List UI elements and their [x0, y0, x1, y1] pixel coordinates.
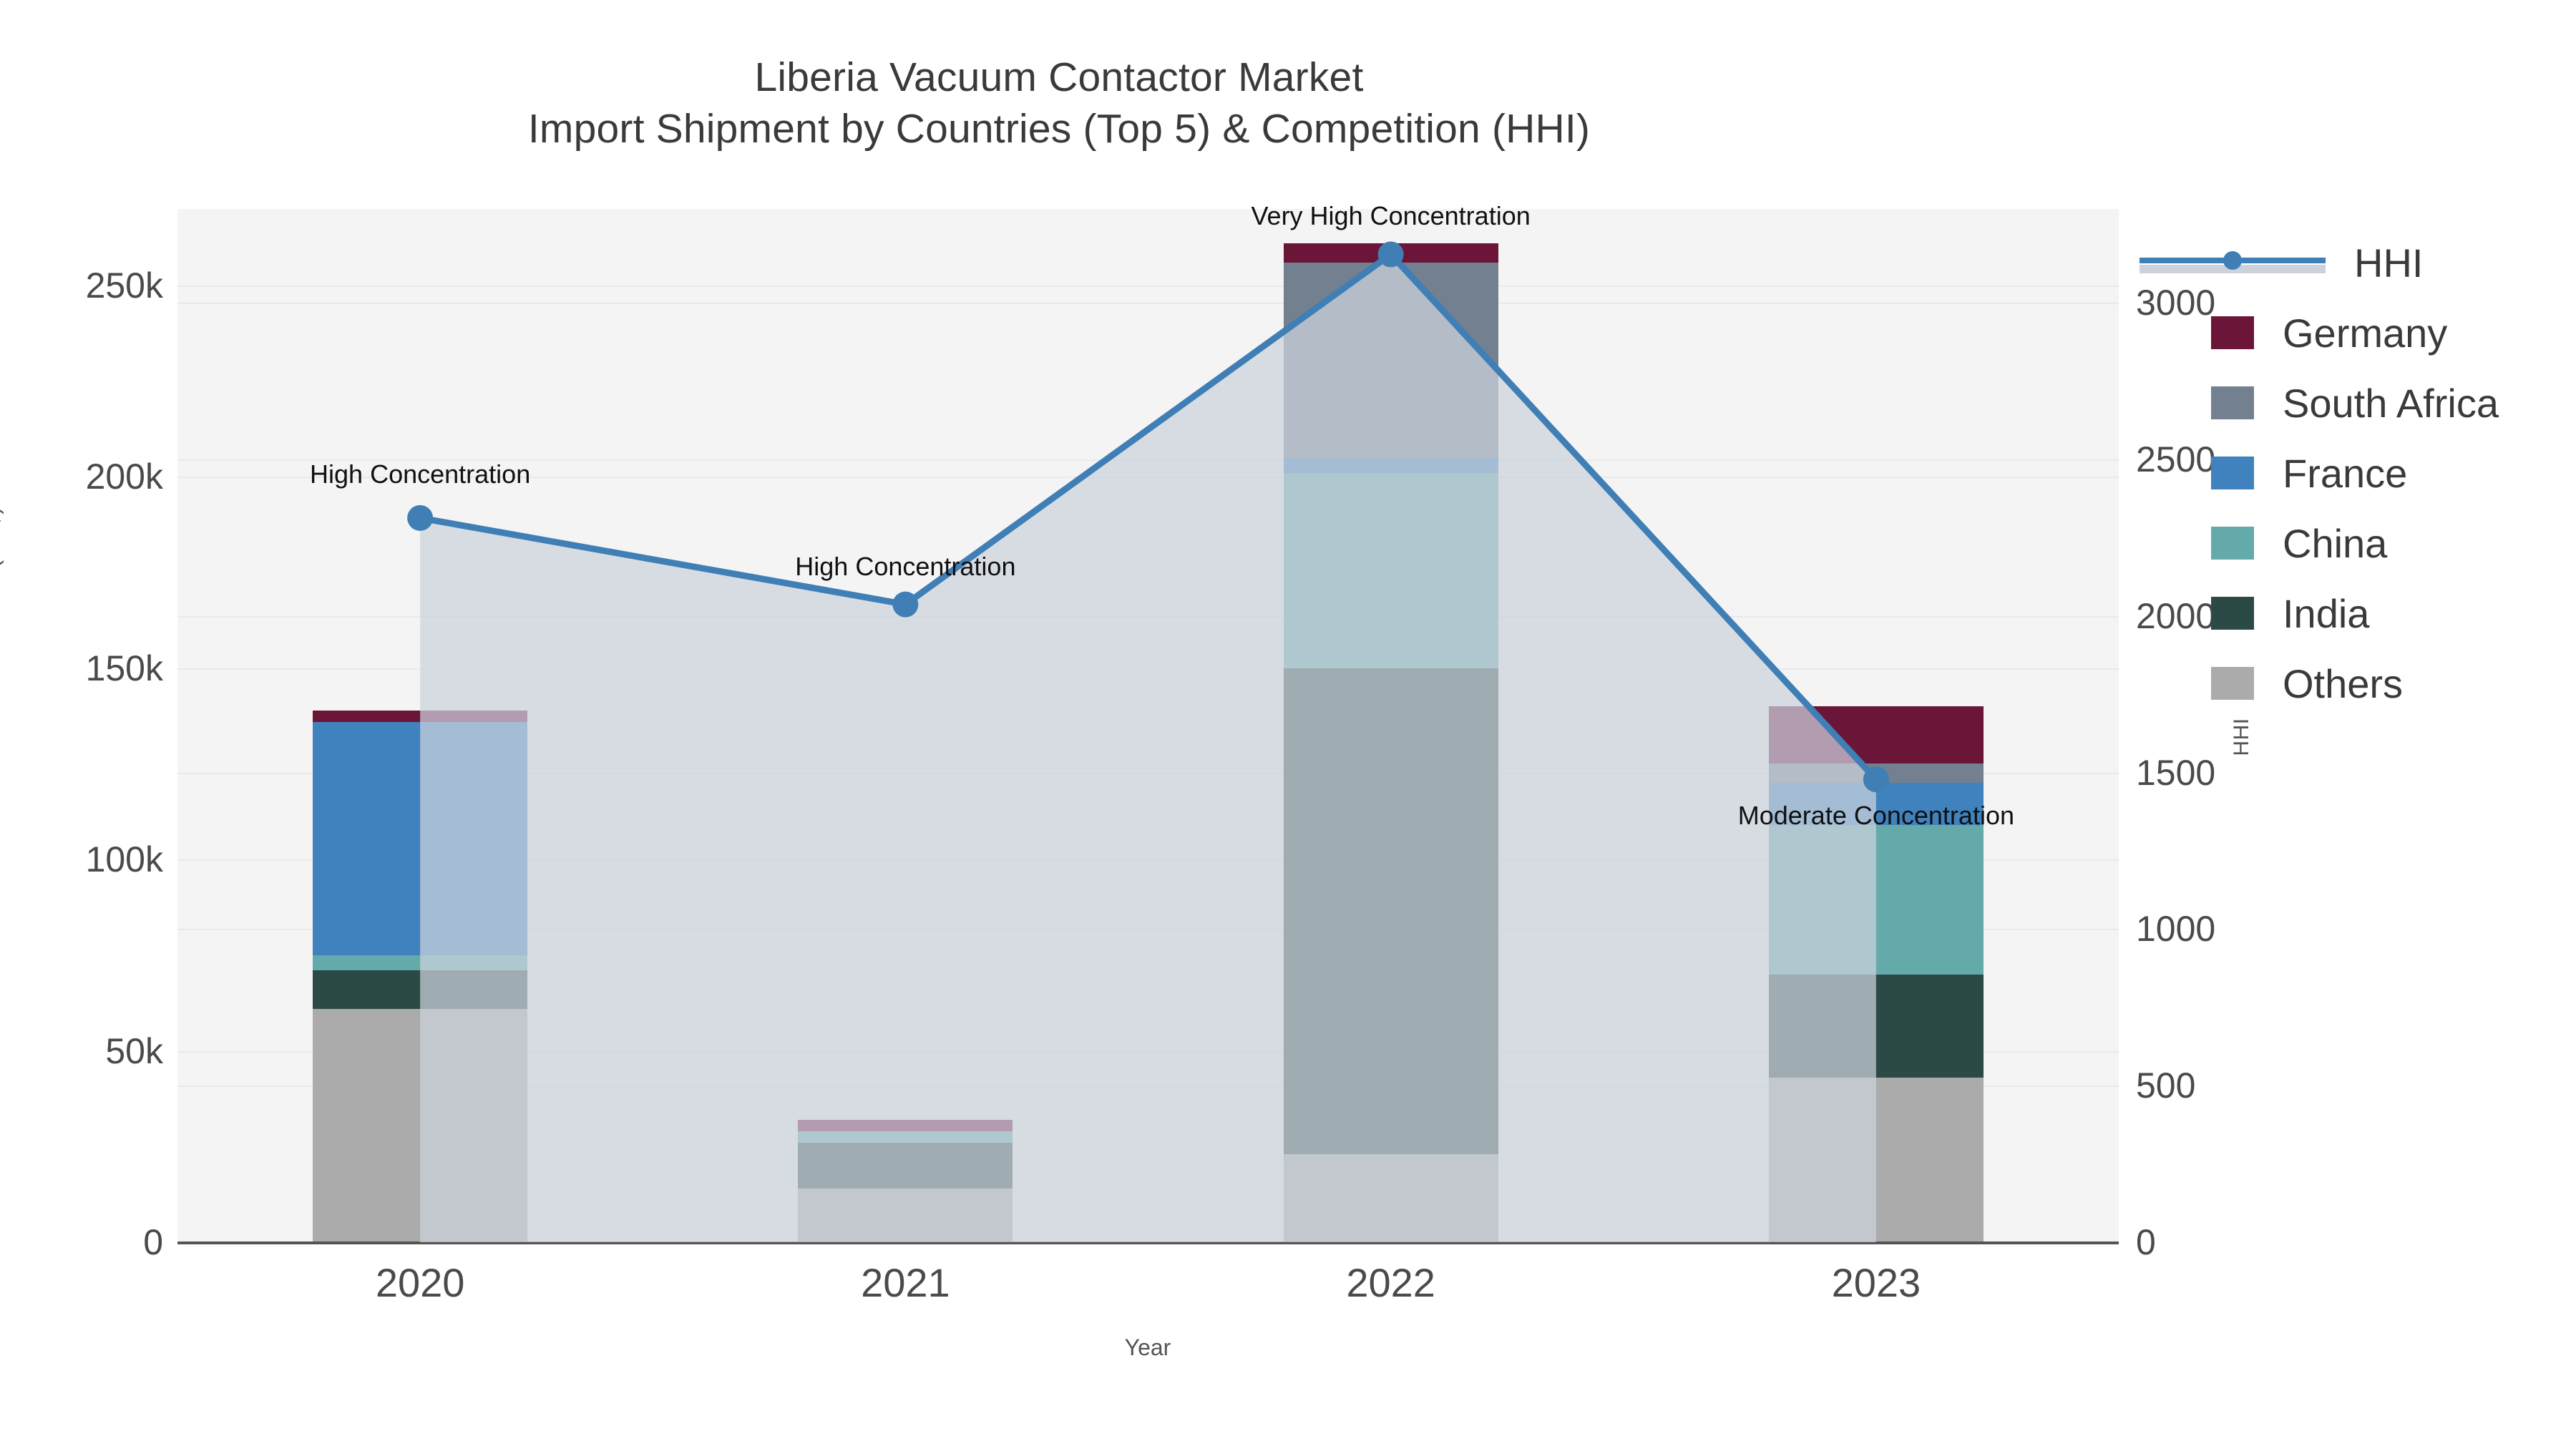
- hhi-annotation: High Concentration: [310, 459, 530, 489]
- title-line-2: Import Shipment by Countries (Top 5) & C…: [0, 103, 2118, 155]
- legend-label: India: [2283, 590, 2369, 637]
- legend-item[interactable]: India: [2211, 578, 2569, 648]
- y-tick-right: 1000: [2136, 908, 2394, 950]
- hhi-marker[interactable]: [407, 505, 433, 531]
- legend-swatch: [2211, 667, 2254, 700]
- legend-item[interactable]: Germany: [2211, 298, 2569, 368]
- legend-label: HHI: [2354, 240, 2423, 286]
- hhi-marker[interactable]: [892, 592, 918, 618]
- legend-label: Germany: [2283, 310, 2447, 356]
- hhi-annotation: Moderate Concentration: [1738, 801, 2014, 831]
- legend-swatch: [2211, 386, 2254, 419]
- legend-item[interactable]: South Africa: [2211, 368, 2569, 438]
- legend-item[interactable]: China: [2211, 508, 2569, 578]
- legend-swatch: [2211, 527, 2254, 560]
- hhi-annotation: Very High Concentration: [1252, 201, 1531, 231]
- hhi-annotation: High Concentration: [795, 552, 1015, 582]
- x-axis-label: Year: [1125, 1335, 1171, 1361]
- y-tick-right: 1500: [2136, 752, 2394, 794]
- x-tick-label: 2021: [861, 1259, 950, 1306]
- title-line-1: Liberia Vacuum Contactor Market: [0, 52, 2118, 103]
- legend-swatch: [2211, 597, 2254, 630]
- x-tick-label: 2023: [1832, 1259, 1921, 1306]
- x-tick-label: 2022: [1346, 1259, 1435, 1306]
- legend-item[interactable]: HHI: [2211, 228, 2569, 298]
- y-tick-left: 200k: [0, 456, 163, 497]
- y-tick-left: 100k: [0, 839, 163, 880]
- chart-root: Liberia Vacuum Contactor Market Import S…: [0, 0, 2576, 1449]
- y-tick-right: 0: [2136, 1221, 2394, 1263]
- legend-item[interactable]: France: [2211, 438, 2569, 508]
- legend-label: South Africa: [2283, 380, 2499, 426]
- hhi-marker[interactable]: [1863, 766, 1889, 792]
- legend-item[interactable]: Others: [2211, 648, 2569, 718]
- x-tick-label: 2020: [376, 1259, 465, 1306]
- hhi-area: [420, 254, 1876, 1242]
- legend-swatch: [2211, 457, 2254, 489]
- legend: HHIGermanySouth AfricaFranceChinaIndiaOt…: [2211, 228, 2569, 718]
- legend-label: France: [2283, 450, 2407, 497]
- y-tick-left: 50k: [0, 1030, 163, 1072]
- y-axis-right-label: HHI: [2230, 718, 2254, 756]
- legend-line-icon: [2140, 246, 2326, 279]
- chart-title: Liberia Vacuum Contactor Market Import S…: [0, 52, 2118, 155]
- hhi-overlay: [177, 209, 2119, 1242]
- y-tick-left: 0: [0, 1221, 163, 1263]
- y-tick-left: 150k: [0, 648, 163, 689]
- y-tick-right: 500: [2136, 1065, 2394, 1106]
- y-tick-left: 250k: [0, 265, 163, 306]
- legend-swatch: [2211, 316, 2254, 349]
- legend-label: China: [2283, 520, 2387, 567]
- legend-label: Others: [2283, 660, 2403, 707]
- hhi-marker[interactable]: [1378, 241, 1404, 267]
- y-axis-left-label: TRADE VALUE (US$): [0, 507, 5, 736]
